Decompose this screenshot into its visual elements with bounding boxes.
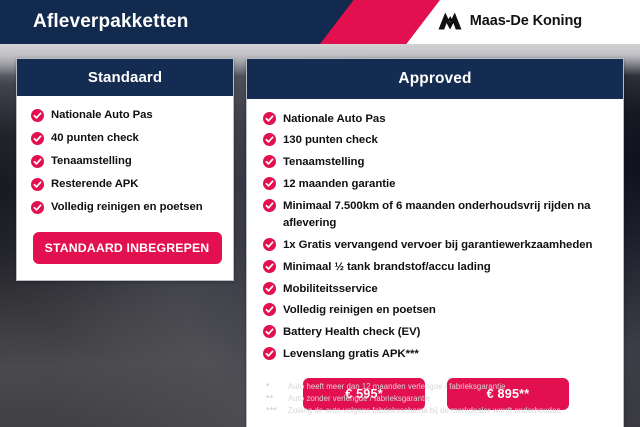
feature-item: 12 maanden garantie xyxy=(263,176,609,193)
feature-label: 12 maanden garantie xyxy=(283,176,395,193)
footnote-text: Zolang de auto volgens fabrieksschema bi… xyxy=(288,406,561,415)
feature-label: Nationale Auto Pas xyxy=(283,111,385,128)
footnote-text: Auto heeft meer dan 12 maanden verlengde… xyxy=(288,382,506,391)
feature-item: Resterende APK xyxy=(31,177,223,192)
footnote-row: ***Zolang de auto volgens fabrieksschema… xyxy=(266,405,626,415)
footnote-row: **Auto zonder verlengde / fabrieksgarant… xyxy=(266,393,626,403)
feature-label: Volledig reinigen en poetsen xyxy=(283,302,436,319)
feature-item: Nationale Auto Pas xyxy=(263,111,609,128)
slide-canvas: Afleverpakketten Maas-De Koning Standaar… xyxy=(0,0,640,427)
check-circle-icon xyxy=(263,133,276,146)
feature-item: Battery Health check (EV) xyxy=(263,324,609,341)
feature-item: Tenaamstelling xyxy=(263,154,609,171)
feature-label: 40 punten check xyxy=(51,131,139,146)
feature-item: 40 punten check xyxy=(31,131,223,146)
feature-label: Minimaal 7.500km of 6 maanden onderhouds… xyxy=(283,198,609,232)
check-circle-icon xyxy=(263,325,276,338)
feature-item: Mobiliteitsservice xyxy=(263,281,609,298)
check-circle-icon xyxy=(263,112,276,125)
check-circle-icon xyxy=(263,238,276,251)
check-circle-icon xyxy=(263,303,276,316)
feature-item: Volledig reinigen en poetsen xyxy=(263,302,609,319)
feature-label: Battery Health check (EV) xyxy=(283,324,420,341)
standaard-card-body: Nationale Auto Pas40 punten checkTenaams… xyxy=(17,96,233,280)
check-circle-icon xyxy=(31,132,44,145)
feature-label: 1x Gratis vervangend vervoer bij garanti… xyxy=(283,237,592,254)
feature-item: 1x Gratis vervangend vervoer bij garanti… xyxy=(263,237,609,254)
feature-label: Nationale Auto Pas xyxy=(51,108,153,123)
footnote-marker: *** xyxy=(266,405,288,415)
check-circle-icon xyxy=(263,347,276,360)
footnote-marker: ** xyxy=(266,393,288,403)
footnotes-block: *Auto heeft meer dan 12 maanden verlengd… xyxy=(266,381,626,417)
brand-logo: Maas-De Koning xyxy=(437,11,582,31)
feature-item: Levenslang gratis APK*** xyxy=(263,346,609,363)
approved-card-body: Nationale Auto Pas130 punten checkTenaam… xyxy=(247,99,623,427)
footnote-row: *Auto heeft meer dan 12 maanden verlengd… xyxy=(266,381,626,391)
feature-item: Nationale Auto Pas xyxy=(31,108,223,123)
feature-label: Tenaamstelling xyxy=(283,154,364,171)
page-header: Afleverpakketten Maas-De Koning xyxy=(0,0,640,44)
feature-item: Tenaamstelling xyxy=(31,154,223,169)
check-circle-icon xyxy=(263,199,276,212)
standaard-package-card: Standaard Nationale Auto Pas40 punten ch… xyxy=(16,58,234,281)
approved-feature-list: Nationale Auto Pas130 punten checkTenaam… xyxy=(263,111,609,364)
maas-de-koning-m-logo-icon xyxy=(437,11,463,31)
standaard-card-heading: Standaard xyxy=(17,59,233,96)
feature-label: Levenslang gratis APK*** xyxy=(283,346,419,363)
feature-label: Minimaal ½ tank brandstof/accu lading xyxy=(283,259,491,276)
feature-label: Resterende APK xyxy=(51,177,138,192)
check-circle-icon xyxy=(263,260,276,273)
standaard-inbegrepen-button[interactable]: STANDAARD INBEGREPEN xyxy=(33,232,222,264)
approved-package-card: Approved Nationale Auto Pas130 punten ch… xyxy=(246,58,624,427)
feature-label: 130 punten check xyxy=(283,132,378,149)
check-circle-icon xyxy=(31,178,44,191)
feature-label: Volledig reinigen en poetsen xyxy=(51,200,203,215)
check-circle-icon xyxy=(31,201,44,214)
brand-name: Maas-De Koning xyxy=(470,13,582,29)
check-circle-icon xyxy=(263,155,276,168)
footnote-marker: * xyxy=(266,381,288,391)
feature-item: Volledig reinigen en poetsen xyxy=(31,200,223,215)
feature-item: Minimaal 7.500km of 6 maanden onderhouds… xyxy=(263,198,609,232)
approved-card-heading: Approved xyxy=(247,59,623,99)
check-circle-icon xyxy=(31,155,44,168)
check-circle-icon xyxy=(263,177,276,190)
feature-item: Minimaal ½ tank brandstof/accu lading xyxy=(263,259,609,276)
feature-item: 130 punten check xyxy=(263,132,609,149)
feature-label: Tenaamstelling xyxy=(51,154,132,169)
page-title: Afleverpakketten xyxy=(33,11,189,33)
footnote-text: Auto zonder verlengde / fabrieksgarantie xyxy=(288,394,430,403)
check-circle-icon xyxy=(31,109,44,122)
standaard-feature-list: Nationale Auto Pas40 punten checkTenaams… xyxy=(31,108,223,215)
feature-label: Mobiliteitsservice xyxy=(283,281,378,298)
check-circle-icon xyxy=(263,282,276,295)
